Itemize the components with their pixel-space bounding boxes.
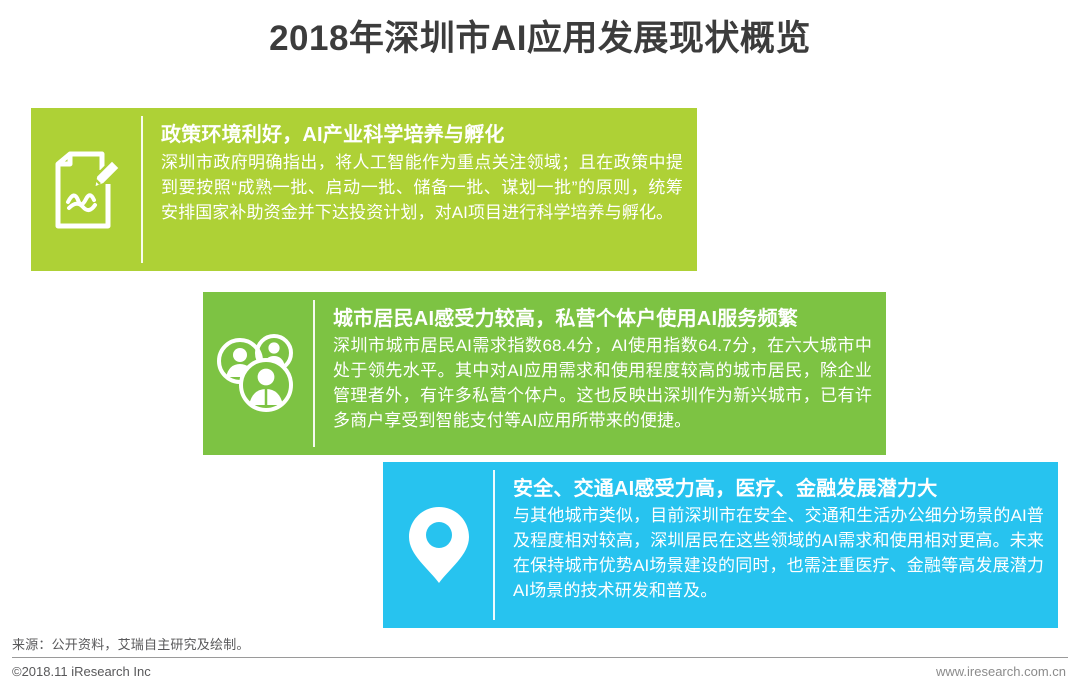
card-body: 政策环境利好，AI产业科学培养与孵化 深圳市政府明确指出，将人工智能作为重点关注… (143, 108, 697, 271)
card-icon-column (383, 462, 495, 628)
info-card-scenarios: 安全、交通AI感受力高，医疗、金融发展潜力大 与其他城市类似，目前深圳市在安全、… (383, 462, 1058, 628)
card-text: 深圳市政府明确指出，将人工智能作为重点关注领域；且在政策中提到要按照“成熟一批、… (161, 151, 683, 226)
footer-divider (12, 657, 1068, 658)
people-group-icon (216, 333, 302, 415)
card-body: 城市居民AI感受力较高，私营个体户使用AI服务频繁 深圳市城市居民AI需求指数6… (315, 292, 886, 455)
website-url: www.iresearch.com.cn (936, 664, 1066, 679)
map-pin-icon (407, 503, 471, 587)
card-text: 与其他城市类似，目前深圳市在安全、交通和生活办公细分场景的AI普及程度相对较高，… (513, 504, 1044, 604)
card-heading: 安全、交通AI感受力高，医疗、金融发展潜力大 (513, 476, 1053, 503)
card-body: 安全、交通AI感受力高，医疗、金融发展潜力大 与其他城市类似，目前深圳市在安全、… (495, 462, 1058, 628)
copyright-text: ©2018.11 iResearch Inc (12, 664, 151, 679)
card-icon-column (203, 292, 315, 455)
page-title: 2018年深圳市AI应用发展现状概览 (0, 10, 1080, 61)
card-heading: 城市居民AI感受力较高，私营个体户使用AI服务频繁 (333, 306, 872, 333)
card-text: 深圳市城市居民AI需求指数68.4分，AI使用指数64.7分，在六大城市中处于领… (333, 334, 872, 434)
info-card-residents: 城市居民AI感受力较高，私营个体户使用AI服务频繁 深圳市城市居民AI需求指数6… (203, 292, 886, 455)
info-card-policy: 政策环境利好，AI产业科学培养与孵化 深圳市政府明确指出，将人工智能作为重点关注… (31, 108, 697, 271)
document-pen-icon (50, 150, 124, 230)
source-note: 来源：公开资料，艾瑞自主研究及绘制。 (12, 634, 250, 653)
card-heading: 政策环境利好，AI产业科学培养与孵化 (161, 122, 683, 149)
card-icon-column (31, 108, 143, 271)
